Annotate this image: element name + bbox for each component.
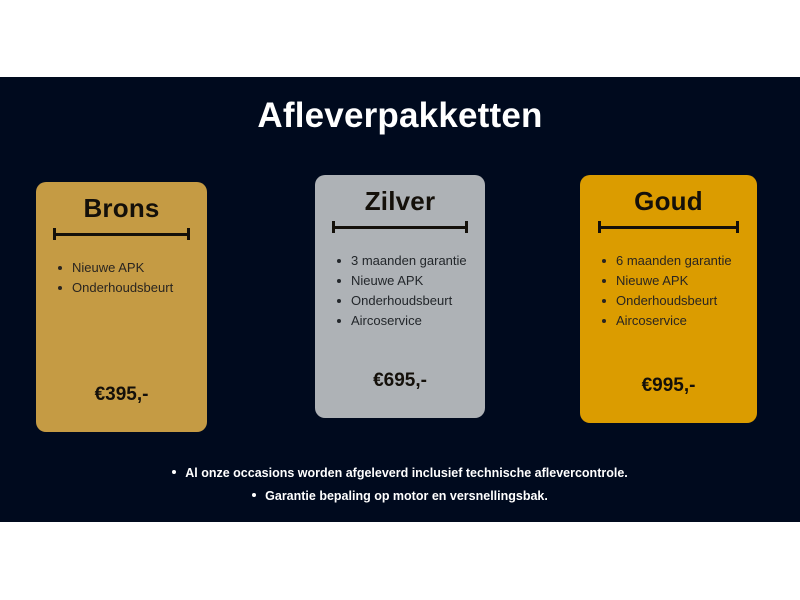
list-item: Nieuwe APK [58,258,207,278]
title-rule-icon [332,221,468,233]
list-item: Aircoservice [602,311,757,331]
rule-bar-icon [598,226,740,229]
package-card-inner: Brons Nieuwe APK Onderhoudsbeurt €395,- [36,182,207,432]
package-feature-list: 3 maanden garantie Nieuwe APK Onderhouds… [315,251,485,331]
footnote-item: Garantie bepaling op motor en versnellin… [0,485,800,508]
list-item: Onderhoudsbeurt [58,278,207,298]
page-title: Afleverpakketten [0,98,800,133]
package-card-inner: Zilver 3 maanden garantie Nieuwe APK Ond… [315,175,485,418]
list-item: Nieuwe APK [337,271,485,291]
package-feature-list: Nieuwe APK Onderhoudsbeurt [36,258,207,298]
package-title: Zilver [315,175,485,214]
package-price: €995,- [580,375,757,397]
rule-cap-right-icon [187,228,190,240]
title-rule-icon [598,221,740,233]
bullet-icon [252,493,256,497]
footnotes: Al onze occasions worden afgeleverd incl… [0,462,800,508]
list-item: Onderhoudsbeurt [337,291,485,311]
list-item: 3 maanden garantie [337,251,485,271]
package-card-inner: Goud 6 maanden garantie Nieuwe APK Onder… [580,175,757,423]
package-price: €695,- [315,370,485,392]
package-card-zilver[interactable]: Zilver 3 maanden garantie Nieuwe APK Ond… [315,175,485,418]
rule-cap-right-icon [465,221,468,233]
package-title: Brons [36,182,207,221]
bullet-icon [172,470,176,474]
slide-panel: Afleverpakketten Brons Nieuwe APK Onderh… [0,77,800,522]
list-item: 6 maanden garantie [602,251,757,271]
package-feature-list: 6 maanden garantie Nieuwe APK Onderhouds… [580,251,757,331]
rule-bar-icon [53,233,190,236]
list-item: Nieuwe APK [602,271,757,291]
package-price: €395,- [36,384,207,406]
slide-root: Afleverpakketten Brons Nieuwe APK Onderh… [0,0,800,600]
rule-bar-icon [332,226,468,229]
title-rule-icon [53,228,190,240]
rule-cap-right-icon [736,221,739,233]
footnote-text: Garantie bepaling op motor en versnellin… [265,489,548,503]
list-item: Onderhoudsbeurt [602,291,757,311]
footnote-text: Al onze occasions worden afgeleverd incl… [185,466,628,480]
package-card-brons[interactable]: Brons Nieuwe APK Onderhoudsbeurt €395,- [36,182,207,432]
footnote-item: Al onze occasions worden afgeleverd incl… [0,462,800,485]
list-item: Aircoservice [337,311,485,331]
package-title: Goud [580,175,757,214]
package-card-goud[interactable]: Goud 6 maanden garantie Nieuwe APK Onder… [580,175,757,423]
